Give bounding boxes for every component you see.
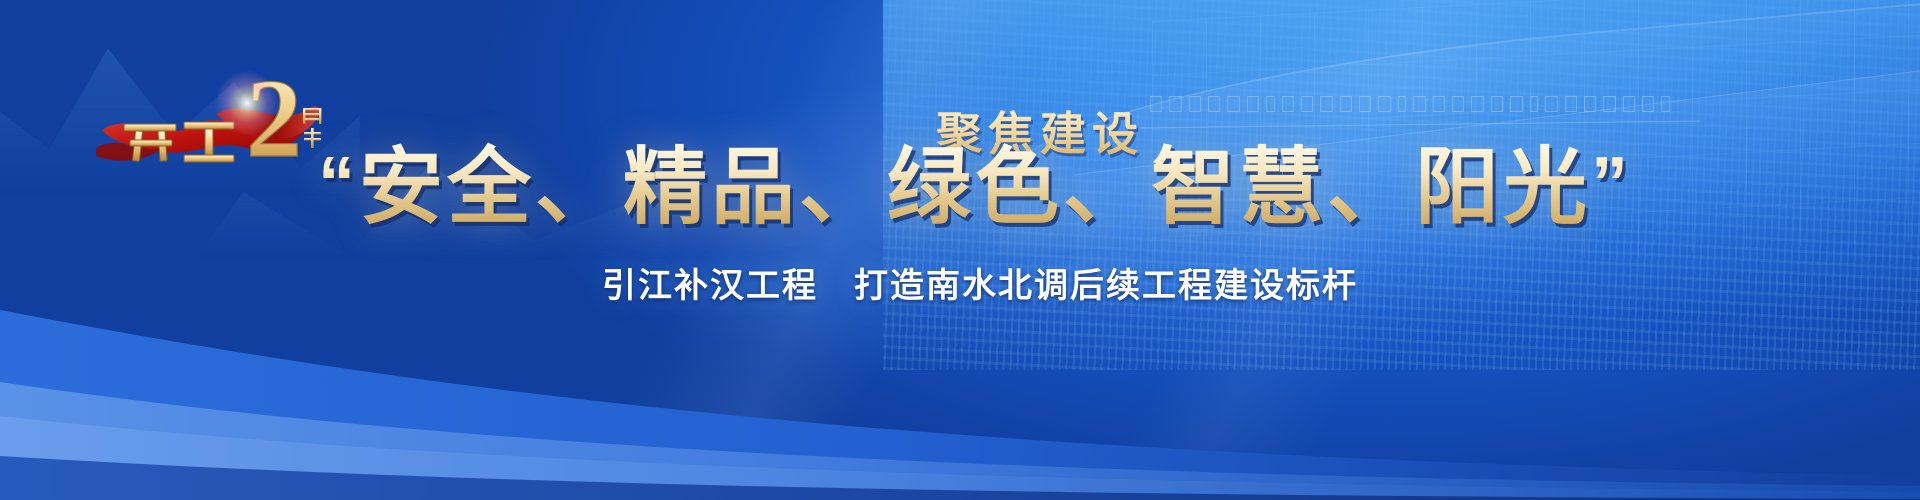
anniversary-banner: 2 聚焦建设 “安全、精品、绿色、智慧、阳光” 引江补汉工程 打造南水北调后续工…: [0, 0, 1920, 500]
headline-open-quote: “: [318, 141, 359, 224]
banner-subtitle: 引江补汉工程 打造南水北调后续工程建设标杆: [0, 258, 1920, 307]
banner-headline: “安全、精品、绿色、智慧、阳光”: [0, 140, 1920, 234]
headline-close-quote: ”: [1591, 141, 1632, 224]
headline-text: 安全、精品、绿色、智慧、阳光: [359, 140, 1591, 234]
